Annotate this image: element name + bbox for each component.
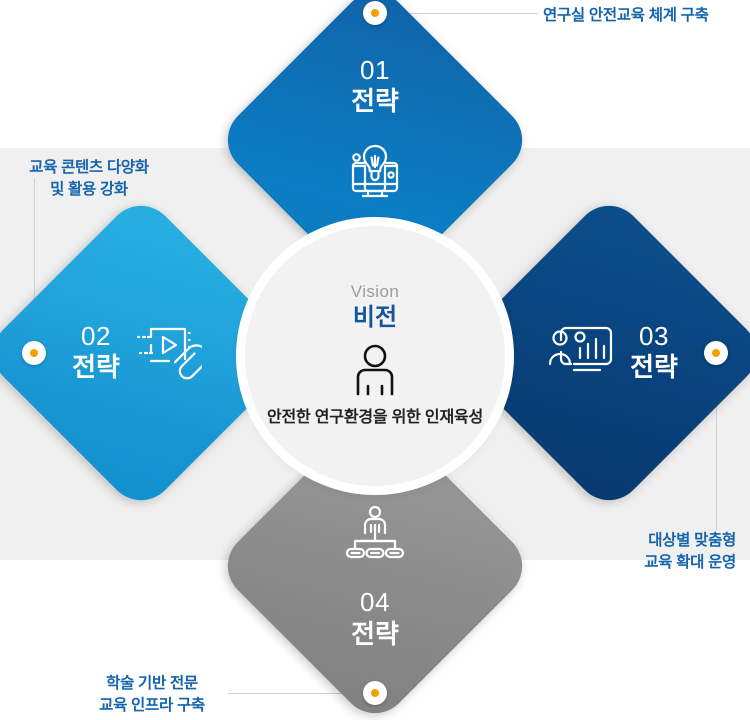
strategy-word-04: 전략: [351, 618, 399, 651]
strategy-number-01: 01: [360, 56, 390, 85]
strategy-word-03: 전략: [630, 351, 678, 384]
strategy-label-03: 대상별 맞춤형 교육 확대 운영: [621, 530, 736, 575]
person-icon: [350, 344, 400, 401]
org-chart-icon: [345, 505, 405, 566]
lightbulb-monitor-icon: [344, 144, 406, 207]
connector-dot-bottom[interactable]: [363, 681, 387, 705]
connector-dot-top[interactable]: [363, 1, 387, 25]
connector-dot-right[interactable]: [704, 341, 728, 365]
strategy-number-03: 03: [639, 322, 669, 351]
vision-circle[interactable]: Vision 비전 안전한 연구환경을 위한 인재육성: [245, 226, 505, 486]
strategy-label-02: 교육 콘텐츠 다양화 및 활용 강화: [14, 157, 164, 202]
strategy-label-01: 연구실 안전교육 체계 구축: [543, 5, 709, 27]
vision-title-ko: 비전: [353, 304, 397, 333]
vision-title-en: Vision: [351, 283, 399, 302]
strategy-number-04: 04: [360, 588, 390, 617]
strategy-word-01: 전략: [351, 85, 399, 118]
strategy-label-04: 학술 기반 전문 교육 인프라 구축: [82, 673, 222, 718]
presentation-chart-person-icon: [548, 322, 618, 385]
strategy-word-02: 전략: [72, 351, 120, 384]
connector-dot-left[interactable]: [22, 341, 46, 365]
vision-description: 안전한 연구환경을 위한 인재육성: [267, 407, 483, 429]
strategy-number-02: 02: [81, 322, 111, 351]
infographic-canvas: 01 전략 02: [0, 0, 750, 720]
video-attachment-icon: [132, 321, 202, 386]
